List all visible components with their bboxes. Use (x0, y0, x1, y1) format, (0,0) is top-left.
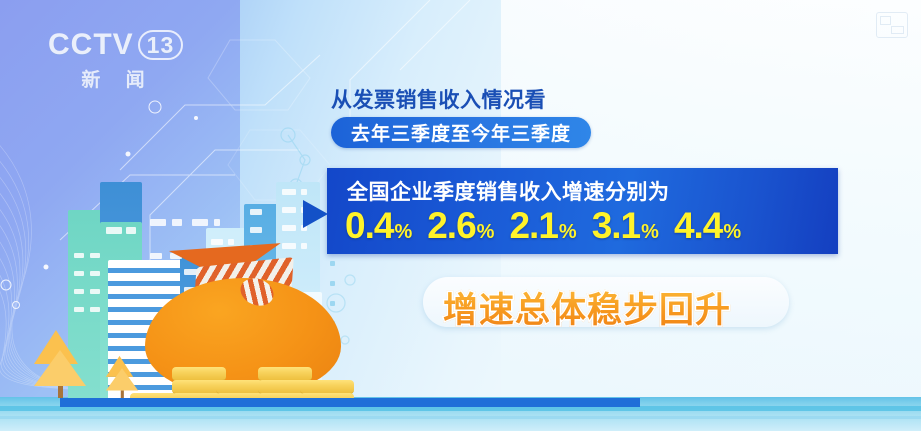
cctv-channel-number: 13 (138, 30, 184, 60)
growth-rate-value-3: 2.1% (509, 205, 576, 247)
cctv-subtitle: 新 闻 (48, 65, 188, 92)
percent-sign: % (394, 221, 412, 244)
growth-rate-number: 3.1 (592, 205, 640, 247)
growth-rate-number: 4.4 (674, 205, 722, 247)
conclusion-label: 增速总体稳步回升 (443, 282, 731, 333)
page-title: 从发票销售收入情况看 (331, 84, 546, 114)
growth-rate-value-1: 0.4% (345, 205, 412, 247)
banner-title: 全国企业季度销售收入增速分别为 (347, 176, 670, 206)
cctv-logo-text: CCTV 13 (48, 28, 188, 62)
growth-rate-number: 0.4 (345, 205, 393, 247)
growth-rate-number: 2.1 (509, 205, 557, 247)
cctv-wordmark: CCTV (48, 28, 134, 62)
tree-bottom-leaf (34, 350, 86, 386)
tree-trunk (120, 391, 123, 398)
coin (258, 367, 312, 381)
growth-rate-number: 2.6 (427, 205, 475, 247)
coin (300, 380, 354, 394)
period-badge-label: 去年三季度至今年三季度 (351, 119, 571, 146)
growth-rate-value-2: 2.6% (427, 205, 494, 247)
period-badge: 去年三季度至今年三季度 (331, 117, 591, 148)
broadcast-graphic: CCTV 13 新 闻 (0, 0, 921, 431)
growth-rate-values: 0.4%2.6%2.1%3.1%4.4% (345, 205, 828, 247)
cctv-logo: CCTV 13 新 闻 (48, 28, 188, 90)
growth-rate-value-5: 4.4% (674, 205, 741, 247)
channel-watermark-icon (876, 12, 908, 38)
tree-large (34, 330, 86, 398)
coin (172, 367, 226, 381)
percent-sign: % (641, 221, 659, 244)
city-illustration (0, 131, 360, 431)
percent-sign: % (723, 221, 741, 244)
tree-trunk (58, 386, 63, 398)
growth-rate-value-4: 3.1% (592, 205, 659, 247)
percent-sign: % (559, 221, 577, 244)
tree-small (106, 356, 138, 398)
percent-sign: % (477, 221, 495, 244)
arrow-right-icon (303, 200, 328, 228)
ground-bar (60, 398, 640, 407)
tree-bottom-leaf (106, 368, 138, 390)
statistic-banner: 全国企业季度销售收入增速分别为 0.4%2.6%2.1%3.1%4.4% (327, 168, 838, 254)
